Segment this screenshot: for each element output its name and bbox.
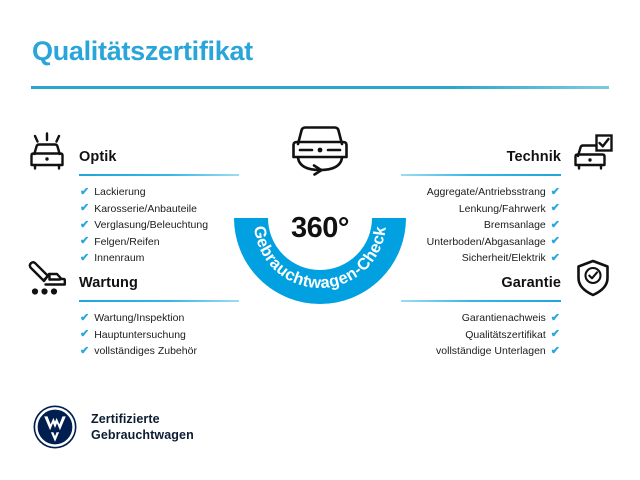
section-optik-header: Optik: [24, 130, 239, 176]
check-icon: ✔: [551, 203, 560, 214]
section-technik-list: ✔Aggregate/Antriebsstrang ✔Lenkung/Fahrw…: [401, 184, 616, 267]
check-icon: ✔: [551, 346, 560, 357]
check-icon: ✔: [80, 346, 89, 357]
check-icon: ✔: [551, 187, 560, 198]
list-item: ✔Aggregate/Antriebsstrang: [401, 184, 616, 201]
badge-center-label: 360°: [232, 212, 408, 245]
section-technik-header: Technik: [401, 130, 616, 176]
check-icon: ✔: [551, 329, 560, 340]
list-item-label: Bremsanlage: [484, 217, 546, 234]
check-icon: ✔: [80, 187, 89, 198]
list-item: ✔Felgen/Reifen: [24, 234, 239, 251]
check-icon: ✔: [80, 203, 89, 214]
section-wartung-divider: [79, 300, 239, 302]
certificate-page: Qualitätszertifikat: [0, 0, 640, 480]
list-item-label: vollständige Unterlagen: [436, 343, 546, 360]
list-item: ✔vollständiges Zubehör: [24, 343, 239, 360]
list-item: ✔Hauptuntersuchung: [24, 327, 239, 344]
list-item: ✔Lackierung: [24, 184, 239, 201]
list-item-label: vollständiges Zubehör: [94, 343, 197, 360]
car-checkbox-icon: [570, 130, 616, 174]
section-technik-divider: [401, 174, 561, 176]
car-shine-icon: [24, 130, 70, 174]
section-garantie-title: Garantie: [501, 275, 561, 291]
section-garantie-header: Garantie: [401, 256, 616, 302]
section-wartung-list: ✔Wartung/Inspektion ✔Hauptuntersuchung ✔…: [24, 310, 239, 360]
shield-check-icon: [570, 256, 616, 300]
check-icon: ✔: [551, 313, 560, 324]
list-item: ✔Wartung/Inspektion: [24, 310, 239, 327]
section-optik: Optik ✔Lackierung ✔Karosserie/Anbauteile…: [24, 130, 239, 267]
section-garantie: Garantie ✔Garantienachweis ✔Qualitätszer…: [401, 256, 616, 360]
list-item-label: Aggregate/Antriebsstrang: [427, 184, 546, 201]
section-optik-list: ✔Lackierung ✔Karosserie/Anbauteile ✔Verg…: [24, 184, 239, 267]
footer-line-1: Zertifizierte: [91, 411, 194, 427]
section-optik-title: Optik: [79, 149, 117, 165]
list-item-label: Verglasung/Beleuchtung: [94, 217, 208, 234]
list-item: ✔Unterboden/Abgasanlage: [401, 234, 616, 251]
list-item: ✔Verglasung/Beleuchtung: [24, 217, 239, 234]
section-optik-divider: [79, 174, 239, 176]
check-icon: ✔: [80, 236, 89, 247]
car-rotate-360-icon: [276, 120, 364, 178]
list-item: ✔Garantienachweis: [401, 310, 616, 327]
list-item-label: Lackierung: [94, 184, 145, 201]
volkswagen-logo: [32, 404, 78, 450]
page-title: Qualitätszertifikat: [32, 36, 253, 67]
footer-brand-text: Zertifizierte Gebrauchtwagen: [91, 411, 194, 443]
check-icon: ✔: [80, 220, 89, 231]
list-item: ✔Lenkung/Fahrwerk: [401, 201, 616, 218]
check-icon: ✔: [551, 220, 560, 231]
badge-360-gebrauchtwagen-check: Gebrauchtwagen-Check 360°: [232, 156, 408, 308]
list-item: ✔Karosserie/Anbauteile: [24, 201, 239, 218]
footer-line-2: Gebrauchtwagen: [91, 427, 194, 443]
check-icon: ✔: [551, 236, 560, 247]
section-garantie-divider: [401, 300, 561, 302]
car-wrench-icon: [24, 256, 70, 300]
check-icon: ✔: [80, 313, 89, 324]
list-item-label: Wartung/Inspektion: [94, 310, 184, 327]
list-item-label: Lenkung/Fahrwerk: [459, 201, 546, 218]
list-item: ✔Bremsanlage: [401, 217, 616, 234]
list-item-label: Hauptuntersuchung: [94, 327, 186, 344]
list-item-label: Felgen/Reifen: [94, 234, 159, 251]
section-wartung-header: Wartung: [24, 256, 239, 302]
list-item-label: Qualitätszertifikat: [465, 327, 546, 344]
list-item-label: Karosserie/Anbauteile: [94, 201, 197, 218]
footer-brand: Zertifizierte Gebrauchtwagen: [32, 404, 194, 450]
check-icon: ✔: [80, 329, 89, 340]
list-item-label: Garantienachweis: [462, 310, 546, 327]
section-wartung: Wartung ✔Wartung/Inspektion ✔Hauptunters…: [24, 256, 239, 360]
section-technik-title: Technik: [507, 149, 561, 165]
list-item: ✔vollständige Unterlagen: [401, 343, 616, 360]
section-technik: Technik ✔Aggregate/Antriebsstrang ✔Lenku…: [401, 130, 616, 267]
section-garantie-list: ✔Garantienachweis ✔Qualitätszertifikat ✔…: [401, 310, 616, 360]
list-item: ✔Qualitätszertifikat: [401, 327, 616, 344]
section-wartung-title: Wartung: [79, 275, 138, 291]
title-divider: [31, 86, 609, 89]
list-item-label: Unterboden/Abgasanlage: [427, 234, 546, 251]
